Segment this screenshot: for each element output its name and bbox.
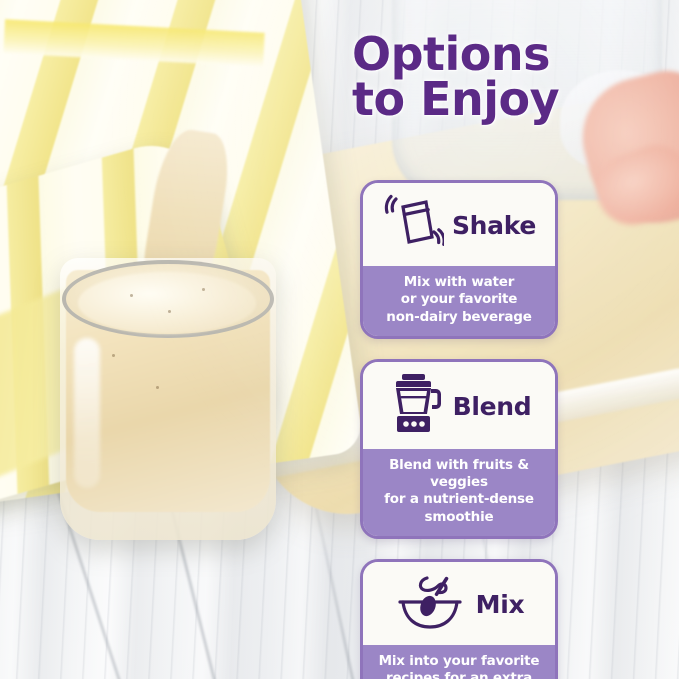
option-card-description: Mix with water or your favorite non-dair…: [363, 266, 555, 336]
option-card-shake[interactable]: Shake Mix with water or your favorite no…: [360, 180, 558, 339]
options-card-list: Shake Mix with water or your favorite no…: [360, 180, 558, 679]
option-card-blend[interactable]: Blend Blend with fruits & veggies for a …: [360, 359, 558, 539]
vanilla-speck: [112, 354, 115, 357]
option-card-description: Mix into your favorite recipes for an ex…: [363, 645, 555, 679]
bowl-spoon-icon: [394, 572, 468, 637]
option-card-header: Blend: [363, 362, 555, 449]
vanilla-speck: [156, 386, 159, 389]
vanilla-speck: [202, 288, 205, 291]
glass-highlight: [74, 338, 100, 488]
option-card-title: Shake: [452, 213, 536, 238]
shaker-cup-icon: [382, 193, 444, 258]
option-card-mix[interactable]: Mix Mix into your favorite recipes for a…: [360, 559, 558, 679]
infographic-canvas: Options to Enjoy: [0, 0, 679, 679]
option-card-title: Blend: [453, 394, 532, 419]
drinking-glass: [60, 258, 276, 540]
option-card-header: Mix: [363, 562, 555, 645]
vanilla-speck: [168, 310, 171, 313]
option-card-title: Mix: [476, 592, 525, 617]
option-card-header: Shake: [363, 183, 555, 266]
option-card-description: Blend with fruits & veggies for a nutrie…: [363, 449, 555, 536]
page-title: Options to Enjoy: [352, 32, 672, 122]
vanilla-speck: [130, 294, 133, 297]
blender-icon: [387, 372, 445, 441]
glass-foam: [78, 272, 256, 334]
